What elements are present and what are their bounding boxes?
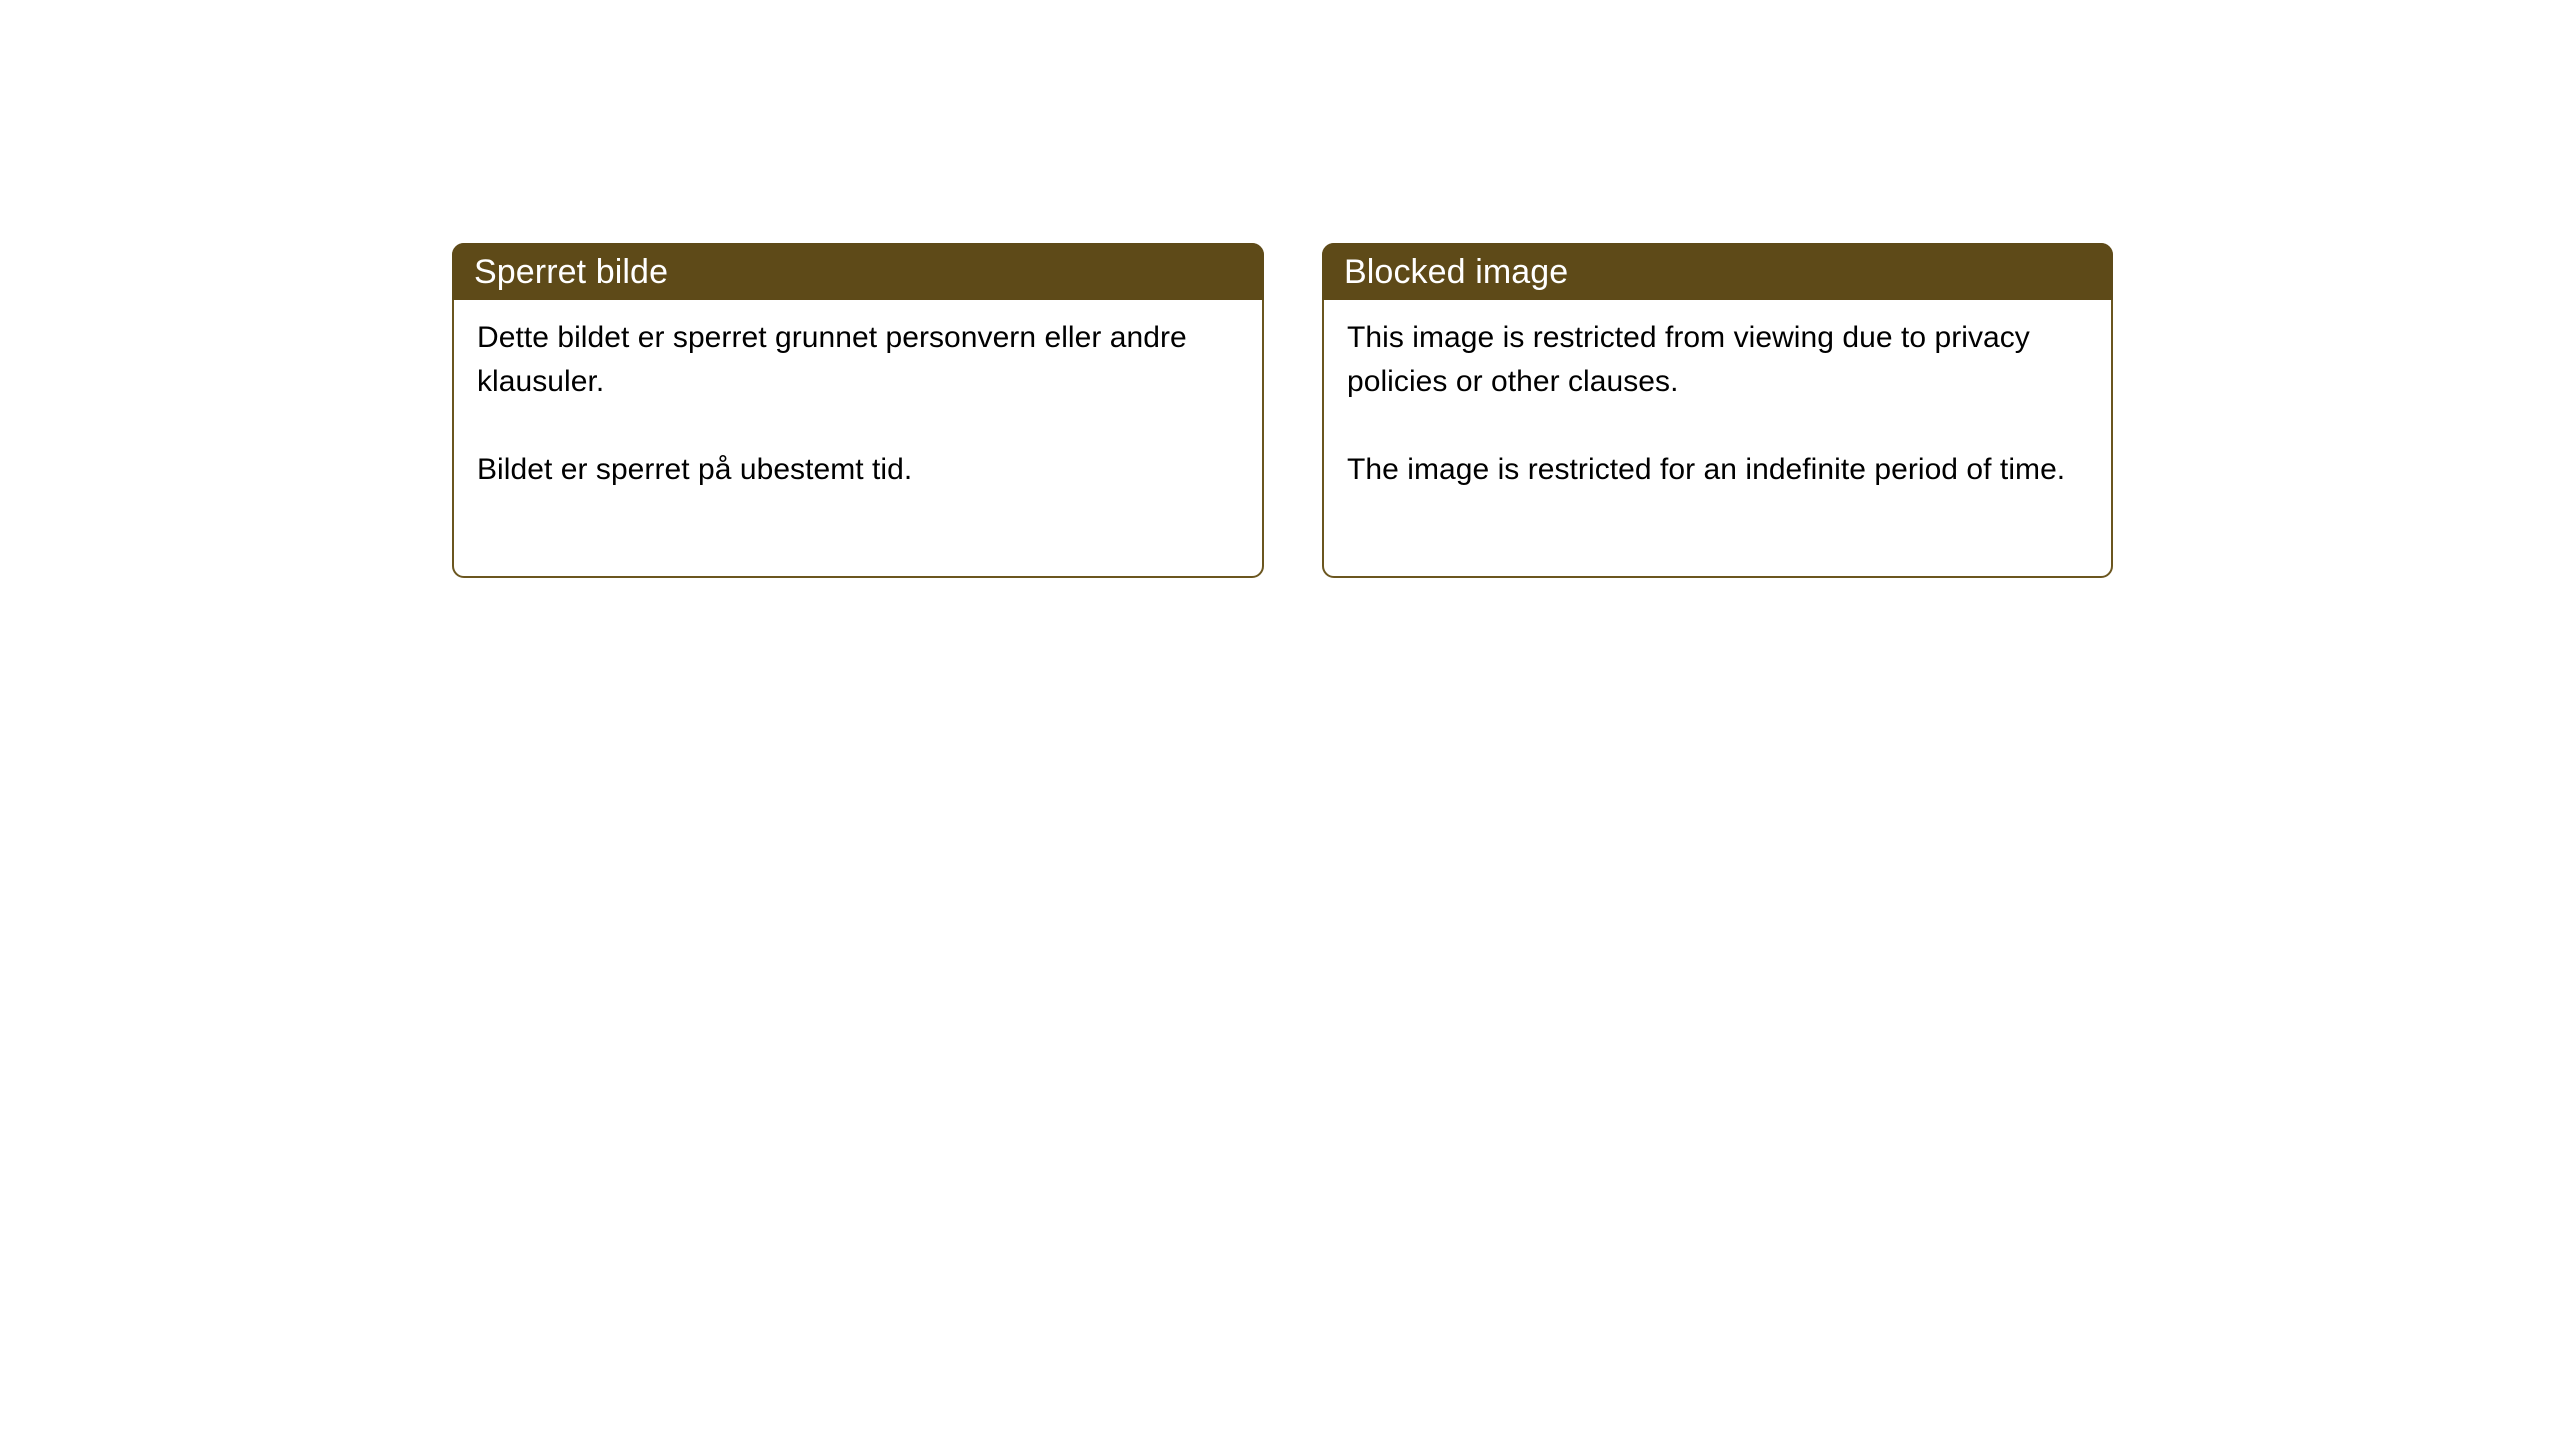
card-paragraph-duration-en: The image is restricted for an indefinit… — [1347, 448, 2091, 492]
card-body-en: This image is restricted from viewing du… — [1324, 300, 2111, 576]
card-title-en: Blocked image — [1344, 252, 1568, 292]
card-paragraph-reason-en: This image is restricted from viewing du… — [1347, 316, 2091, 404]
card-paragraph-reason-no: Dette bildet er sperret grunnet personve… — [477, 316, 1242, 404]
card-body-no: Dette bildet er sperret grunnet personve… — [454, 300, 1262, 576]
card-header-en: Blocked image — [1322, 243, 2113, 300]
blocked-image-notice-group: Sperret bilde Dette bildet er sperret gr… — [452, 243, 2113, 578]
card-paragraph-duration-no: Bildet er sperret på ubestemt tid. — [477, 448, 1242, 492]
card-header-no: Sperret bilde — [452, 243, 1264, 300]
card-title-no: Sperret bilde — [474, 252, 668, 292]
blocked-image-card-en: Blocked image This image is restricted f… — [1322, 243, 2113, 578]
blocked-image-card-no: Sperret bilde Dette bildet er sperret gr… — [452, 243, 1264, 578]
